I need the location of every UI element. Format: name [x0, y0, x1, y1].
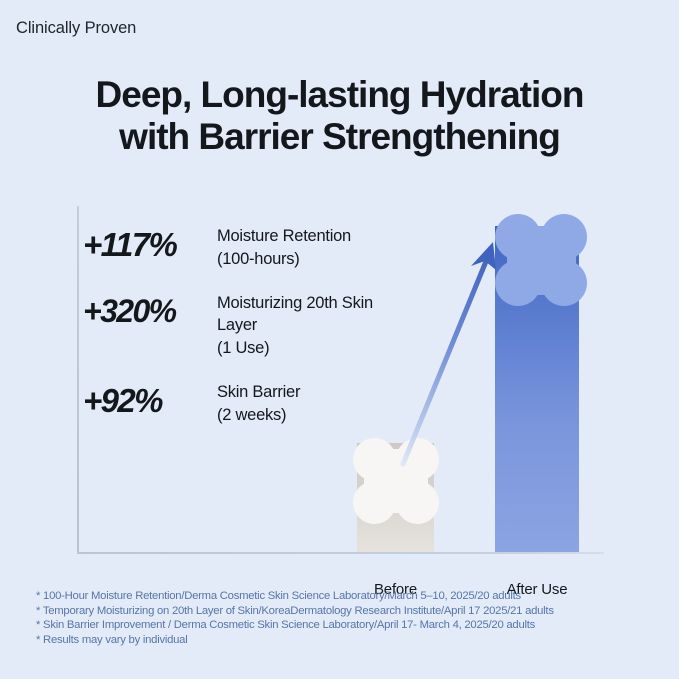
stat-row: +320% Moisturizing 20th Skin Layer (1 Us… — [83, 289, 413, 360]
stat-row: +92% Skin Barrier (2 weeks) — [83, 378, 413, 427]
headline-line-1: Deep, Long-lasting Hydration — [96, 74, 584, 115]
stat-label: Moisture Retention — [217, 227, 351, 245]
footnote-item: * Skin Barrier Improvement / Derma Cosme… — [36, 618, 554, 633]
stat-description: Moisturizing 20th Skin Layer (1 Use) — [217, 289, 413, 360]
headline-line-2: with Barrier Strengthening — [20, 116, 659, 158]
footnote-item: * Temporary Moisturizing on 20th Layer o… — [36, 604, 554, 619]
page-title: Deep, Long-lasting Hydration with Barrie… — [0, 74, 679, 158]
stat-value: +320% — [83, 289, 217, 327]
bar-after-use — [495, 226, 579, 552]
clover-icon-after — [495, 214, 587, 306]
stat-label: Skin Barrier — [217, 383, 300, 401]
footnote-item: * 100-Hour Moisture Retention/Derma Cosm… — [36, 589, 554, 604]
stat-sublabel: (2 weeks) — [217, 404, 300, 427]
stat-description: Moisture Retention (100-hours) — [217, 222, 351, 271]
stat-sublabel: (100-hours) — [217, 248, 351, 271]
stat-row: +117% Moisture Retention (100-hours) — [83, 222, 413, 271]
chart-x-axis — [77, 552, 604, 554]
stat-sublabel: (1 Use) — [217, 337, 413, 360]
stat-value: +117% — [83, 222, 217, 261]
footnotes: * 100-Hour Moisture Retention/Derma Cosm… — [36, 589, 554, 648]
bar-before — [357, 443, 434, 552]
stats-list: +117% Moisture Retention (100-hours) +32… — [83, 222, 413, 444]
stat-label: Moisturizing 20th Skin Layer — [217, 294, 373, 335]
eyebrow-label: Clinically Proven — [16, 19, 136, 39]
chart-y-axis — [77, 206, 79, 554]
clover-icon-before — [353, 438, 439, 524]
stat-value: +92% — [83, 378, 217, 417]
footnote-item: * Results may vary by individual — [36, 633, 554, 648]
stat-description: Skin Barrier (2 weeks) — [217, 378, 300, 427]
